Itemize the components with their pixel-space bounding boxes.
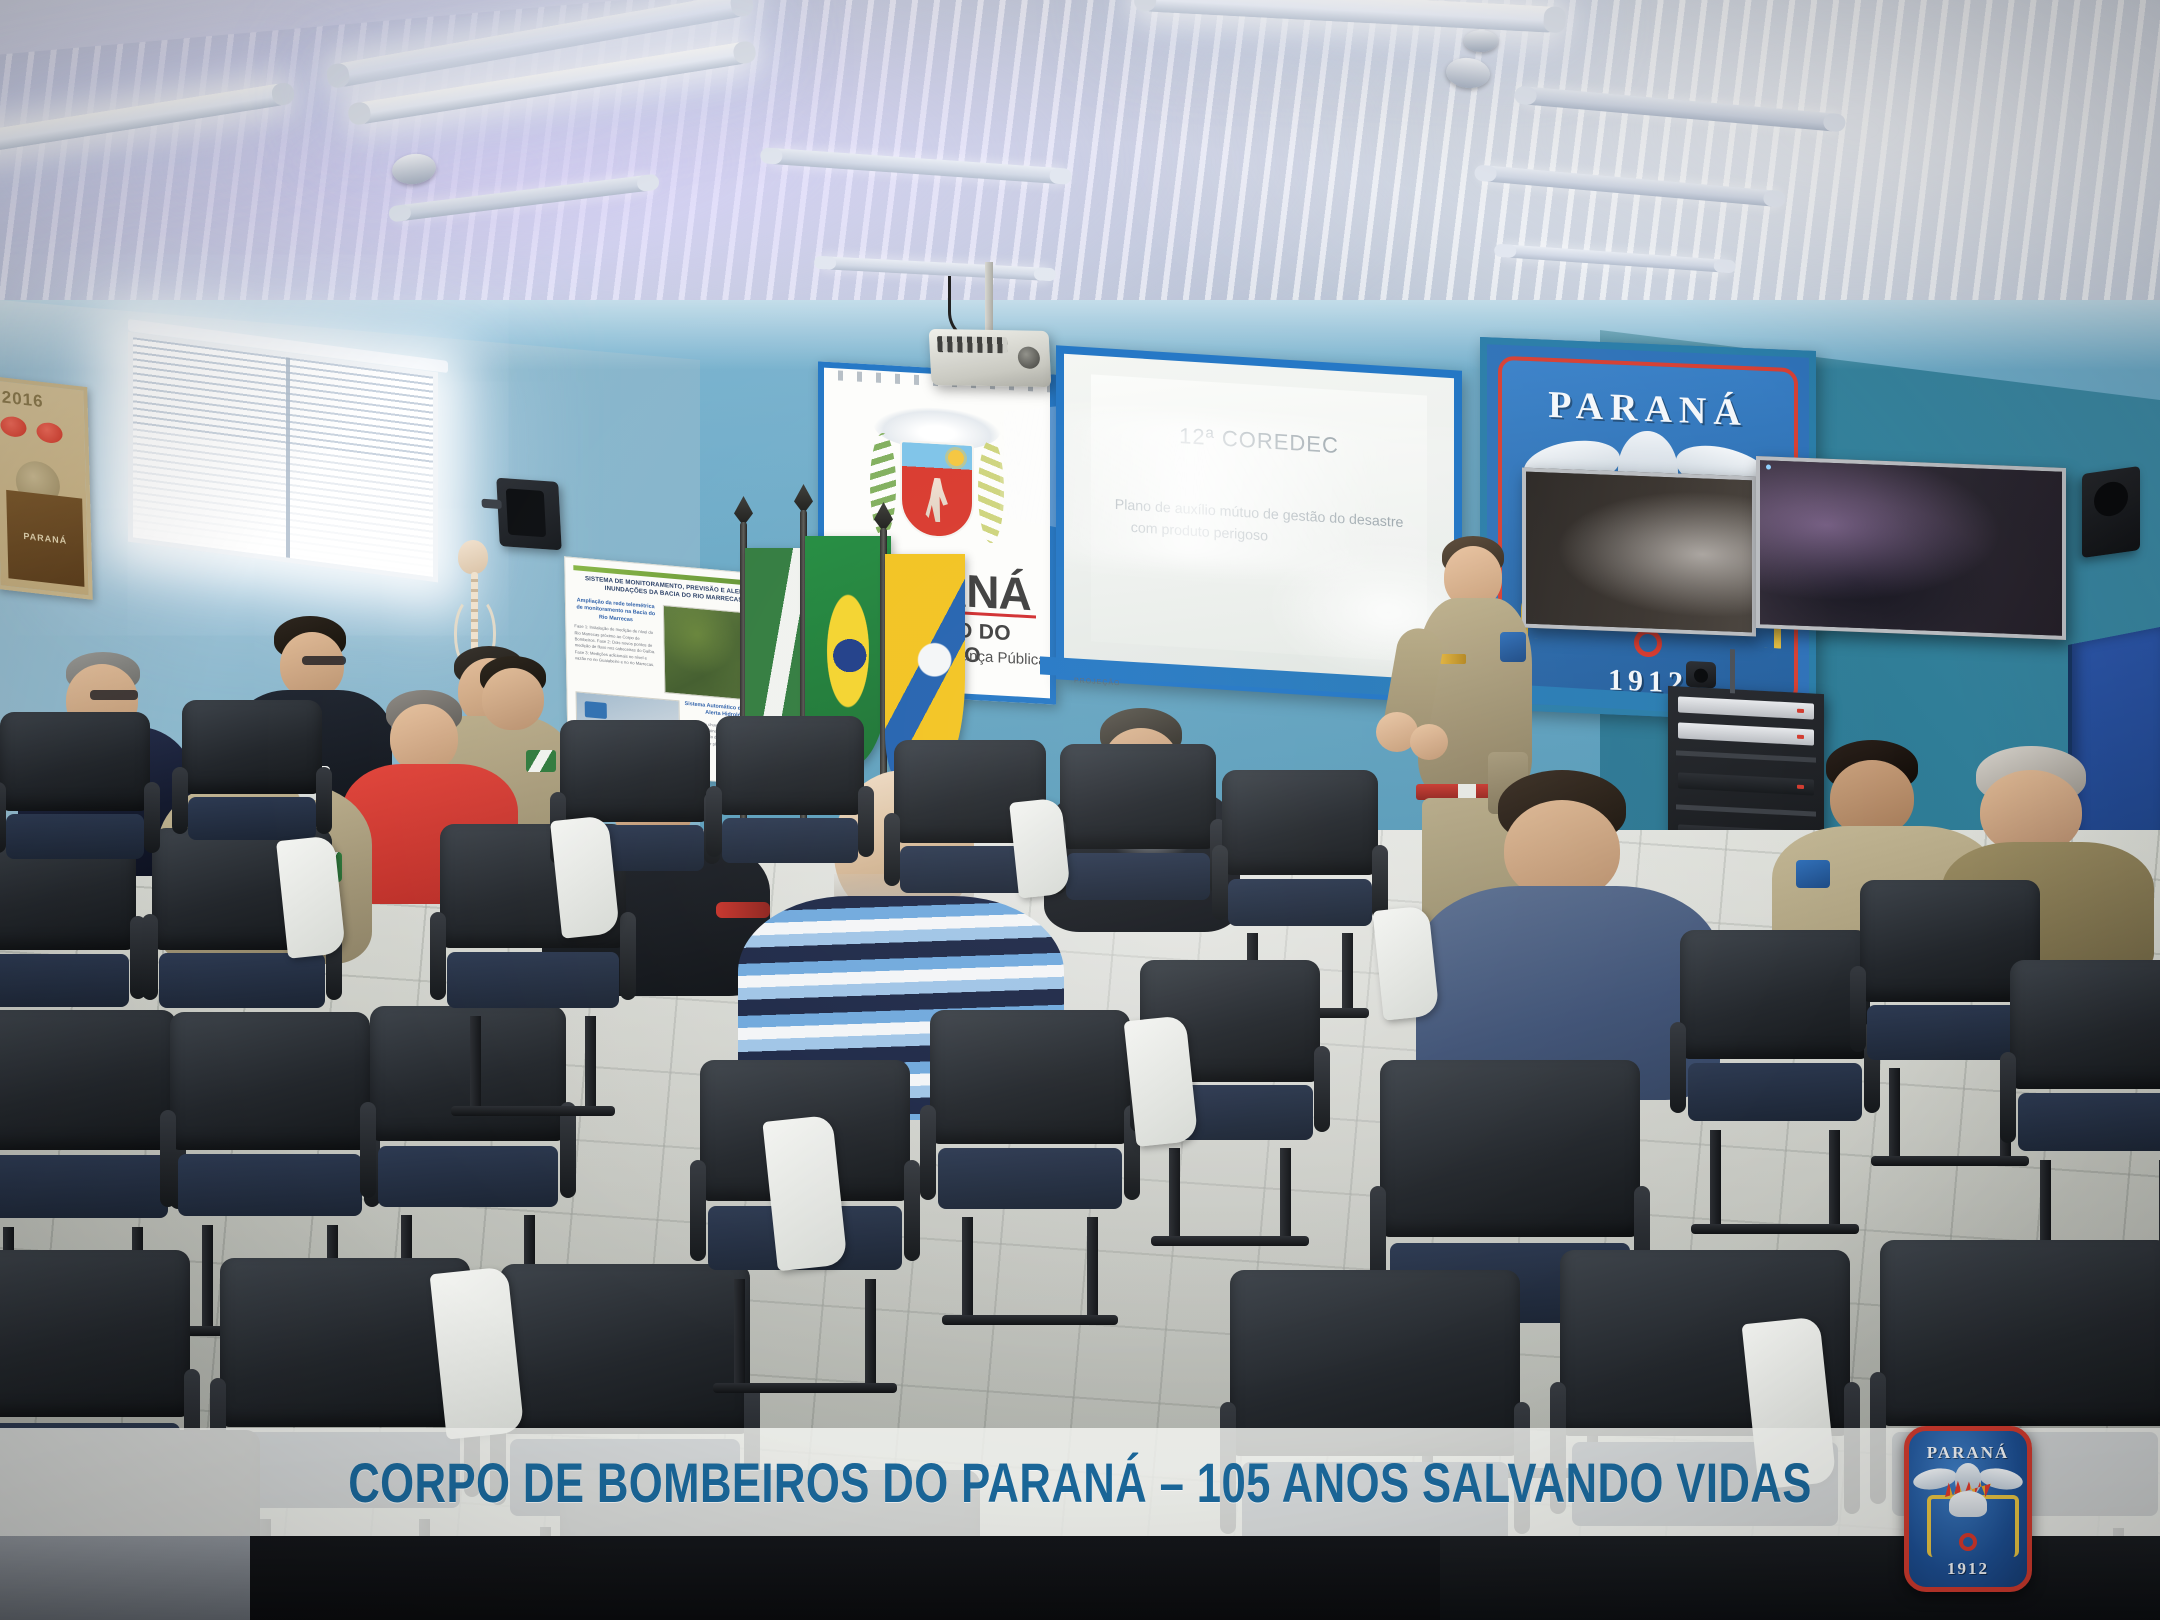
auditorium-chair[interactable]: [716, 716, 864, 876]
wall-tv-right: [1756, 456, 2066, 640]
chair-writing-tablet: [1009, 798, 1071, 899]
head: [1504, 800, 1620, 900]
footer-banner-text: CORPO DE BOMBEIROS DO PARANÁ – 105 ANOS …: [238, 1428, 1923, 1536]
wall-speaker-right: [2082, 466, 2140, 558]
slide-body: Plano de auxílio mútuo de gestão do desa…: [1115, 494, 1417, 557]
blinds-divider: [286, 357, 290, 558]
plaque-rosette: [0, 415, 27, 438]
chair-writing-tablet: [1124, 1015, 1199, 1147]
auditorium-chair[interactable]: [0, 712, 150, 872]
auditorium-chair[interactable]: [170, 1012, 370, 1234]
auditorium-chair[interactable]: [2010, 960, 2160, 1168]
badge-top-text: PARANÁ: [1909, 1443, 2027, 1463]
photo-scene: 2016 PARANÁ SISTEMA DE MONITORAMENTO, PR…: [0, 0, 2160, 1620]
glasses-icon: [302, 656, 346, 665]
auditorium-chair[interactable]: [1222, 770, 1378, 940]
wall-speaker-left: [496, 478, 561, 551]
poster-subtitle: Ampliação da rede telemétrica de monitor…: [574, 597, 658, 627]
prf-glasses-icon: [90, 690, 138, 700]
window-blinds: [133, 337, 433, 576]
plaque-crest-text: PARANÁ: [23, 531, 67, 546]
chair-writing-tablet: [276, 835, 346, 958]
auditorium-chair[interactable]: [0, 1010, 176, 1236]
footer-bottom-strip: [0, 1536, 2160, 1620]
plaque-crest: PARANÁ: [6, 490, 84, 587]
head: [1830, 760, 1914, 836]
auditorium-chair[interactable]: [1680, 930, 1870, 1138]
plaque-rosette: [36, 421, 63, 444]
badge-year: 1912: [1909, 1559, 2027, 1579]
emblem-ring-icon: [1634, 628, 1662, 657]
presenter-shoulder-patch: [1500, 632, 1526, 662]
badge-ring-icon: [1959, 1533, 1977, 1551]
presentation-slide: 12ª COREDEC Plano de auxílio mútuo de ge…: [1091, 375, 1426, 663]
chair-writing-tablet: [1372, 905, 1439, 1020]
auditorium-chair[interactable]: [182, 700, 322, 852]
auditorium-chair[interactable]: [930, 1010, 1130, 1226]
head: [482, 668, 544, 730]
cbm-badge-logo: PARANÁ 1912: [1904, 1426, 2032, 1592]
video-camera-icon: [1686, 661, 1716, 689]
slide-title: 12ª COREDEC: [1091, 417, 1426, 464]
badge-helmet-icon: [1949, 1491, 1987, 1517]
ceiling-projector: [929, 329, 1052, 387]
chair-writing-tablet: [550, 815, 620, 938]
shoulder-patch: [1796, 860, 1830, 888]
presenter-chest-insignia: [1440, 654, 1466, 664]
ceiling-spot-light: [1464, 30, 1498, 52]
plaque-year: 2016: [2, 387, 44, 412]
wall-tv-left: [1522, 468, 1756, 637]
wall-plaque: 2016 PARANÁ: [0, 376, 93, 600]
window: [128, 332, 438, 583]
head: [280, 632, 344, 698]
presenter-hand-right: [1410, 724, 1448, 760]
auditorium-chair[interactable]: [1060, 744, 1216, 914]
